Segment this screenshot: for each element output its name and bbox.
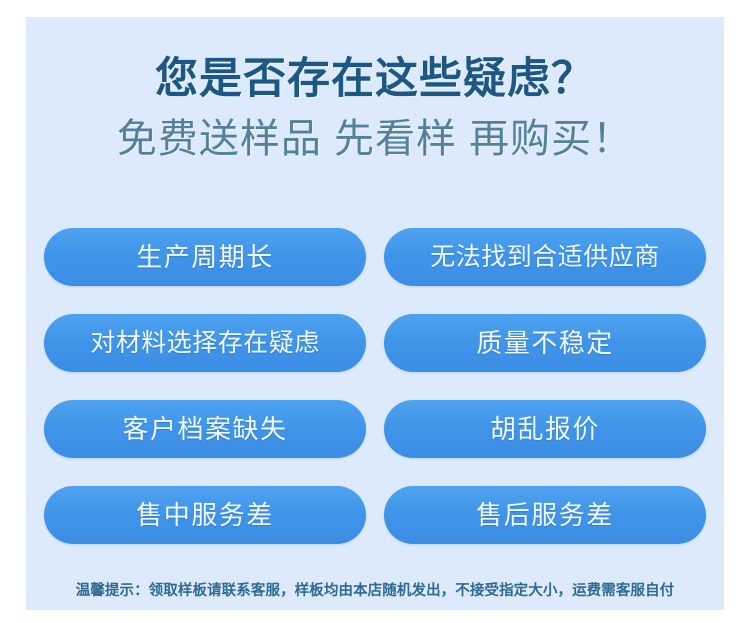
- concern-pill-label: 生产周期长: [136, 244, 274, 270]
- concerns-row: 客户档案缺失 胡乱报价: [26, 400, 724, 458]
- concern-pill-label: 客户档案缺失: [122, 416, 287, 442]
- concerns-row: 对材料选择存在疑虑 质量不稳定: [26, 314, 724, 372]
- concern-pill-label: 对材料选择存在疑虑: [90, 331, 320, 356]
- page-title: 您是否存在这些疑虑？: [26, 17, 724, 103]
- concern-pill-unstable-quality[interactable]: 质量不稳定: [384, 314, 706, 372]
- sample-policy-note: 温馨提示：领取样板请联系客服，样板均由本店随机发出，不接受指定大小，运费需客服自…: [26, 579, 724, 600]
- concern-pill-missing-records[interactable]: 客户档案缺失: [44, 400, 366, 458]
- concern-pill-random-pricing[interactable]: 胡乱报价: [384, 400, 706, 458]
- concerns-row: 售中服务差 售后服务差: [26, 486, 724, 544]
- concerns-row: 生产周期长 无法找到合适供应商: [26, 228, 724, 286]
- concern-pill-label: 胡乱报价: [490, 416, 600, 442]
- page-subtitle: 免费送样品 先看样 再购买！: [26, 103, 724, 161]
- concern-pill-material-doubt[interactable]: 对材料选择存在疑虑: [44, 314, 366, 372]
- headline-block: 您是否存在这些疑虑？ 免费送样品 先看样 再购买！: [26, 17, 724, 161]
- concern-pill-poor-after-sale-service[interactable]: 售后服务差: [384, 486, 706, 544]
- concern-pill-label: 无法找到合适供应商: [430, 245, 660, 270]
- concerns-list: 生产周期长 无法找到合适供应商 对材料选择存在疑虑 质量不稳定 客户档案缺失 胡…: [26, 228, 724, 544]
- concern-pill-label: 售中服务差: [136, 502, 274, 528]
- concern-pill-poor-during-sale-service[interactable]: 售中服务差: [44, 486, 366, 544]
- concern-pill-label: 售后服务差: [476, 502, 614, 528]
- concern-pill-label: 质量不稳定: [476, 330, 614, 356]
- concern-pill-no-supplier[interactable]: 无法找到合适供应商: [384, 228, 706, 286]
- promo-banner: 您是否存在这些疑虑？ 免费送样品 先看样 再购买！ 生产周期长 无法找到合适供应…: [26, 17, 724, 610]
- concern-pill-production-cycle[interactable]: 生产周期长: [44, 228, 366, 286]
